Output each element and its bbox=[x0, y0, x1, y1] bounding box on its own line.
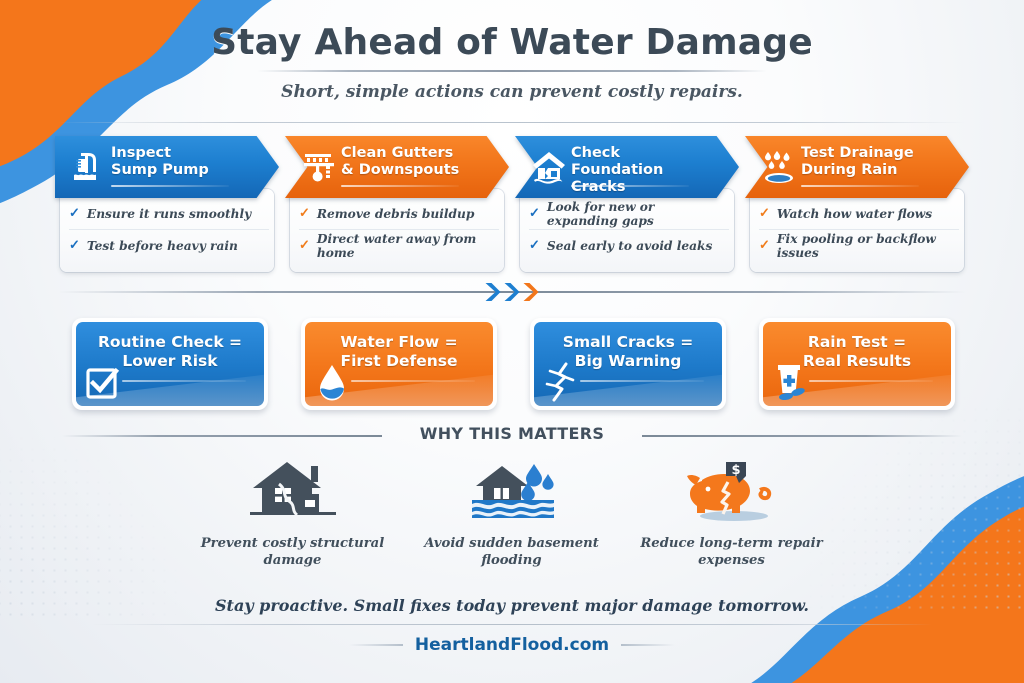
step-bullet-text: Test before heavy rain bbox=[87, 239, 238, 253]
step-title-accent bbox=[341, 185, 459, 187]
step-bullet-text: Remove debris buildup bbox=[317, 207, 475, 221]
water-drop-icon bbox=[313, 362, 351, 402]
benefit-accent bbox=[809, 380, 933, 382]
step-bullet-text: Direct water away from home bbox=[317, 232, 499, 260]
step-title-line2: During Rain bbox=[801, 162, 943, 179]
flooded-house-icon bbox=[464, 456, 560, 526]
step-title-line2: & Downspouts bbox=[341, 162, 483, 179]
step-title-accent bbox=[111, 185, 229, 187]
step-banner: Test Drainage During Rain bbox=[745, 136, 969, 198]
step-bullet: ✓ Direct water away from home bbox=[299, 229, 499, 261]
benefit-card-inner: Routine Check = Lower Risk bbox=[76, 322, 264, 406]
step-title-line1: Test Drainage bbox=[801, 145, 943, 162]
step-title-line2: Cracks bbox=[571, 179, 713, 196]
step-banner-title: Check Foundation Cracks bbox=[571, 145, 713, 196]
step-bullet-text: Watch how water flows bbox=[777, 207, 932, 221]
broken-piggy-bank-icon: $ bbox=[682, 456, 782, 526]
step-title-line1: Clean Gutters bbox=[341, 145, 483, 162]
footer-note: Stay proactive. Small fixes today preven… bbox=[0, 596, 1024, 615]
checkbox-icon bbox=[84, 362, 122, 402]
step-bullet: ✓ Look for new or expanding gaps bbox=[529, 198, 729, 229]
benefit-accent bbox=[351, 380, 475, 382]
chevron-right-icon bbox=[523, 282, 540, 302]
svg-text:$: $ bbox=[731, 463, 740, 478]
reason-icon-wrap bbox=[404, 452, 619, 526]
site-url[interactable]: HeartlandFlood.com bbox=[415, 635, 609, 655]
reason-item-1: Prevent costly structural damage bbox=[185, 452, 400, 569]
reason-icon-wrap: $ bbox=[624, 452, 839, 526]
benefit-accent bbox=[122, 380, 246, 382]
benefit-card-3[interactable]: Small Cracks = Big Warning bbox=[530, 318, 726, 410]
step-title-line1: Check Foundation bbox=[571, 145, 713, 179]
step-bullets: ✓ Look for new or expanding gaps ✓ Seal … bbox=[529, 198, 729, 261]
benefit-line1: Rain Test = bbox=[763, 333, 951, 352]
step-bullet: ✓ Test before heavy rain bbox=[69, 229, 269, 261]
step-banner: Clean Gutters & Downspouts bbox=[285, 136, 509, 198]
step-bullets: ✓ Watch how water flows ✓ Fix pooling or… bbox=[759, 198, 959, 261]
benefit-card-1[interactable]: Routine Check = Lower Risk bbox=[72, 318, 268, 410]
footer-dash-left bbox=[349, 644, 403, 646]
cracked-house-icon bbox=[529, 147, 569, 187]
benefit-card-inner: Rain Test = Real Results bbox=[763, 322, 951, 406]
benefit-line1: Small Cracks = bbox=[534, 333, 722, 352]
step-bullets: ✓ Ensure it runs smoothly ✓ Test before … bbox=[69, 198, 269, 261]
reasons-row: Prevent costly structural damage Avoid s… bbox=[160, 452, 864, 577]
step-banner-title: Test Drainage During Rain bbox=[801, 145, 943, 179]
damaged-house-icon bbox=[245, 456, 341, 526]
footer-divider bbox=[92, 624, 932, 625]
step-card-1[interactable]: Inspect Sump Pump ✓ Ensure it runs smoot… bbox=[55, 136, 279, 272]
check-icon: ✓ bbox=[759, 207, 770, 220]
dot-texture-bottom-left bbox=[0, 433, 184, 623]
gutter-downspout-icon bbox=[299, 147, 339, 187]
benefit-card-inner: Water Flow = First Defense bbox=[305, 322, 493, 406]
why-label: WHY THIS MATTERS bbox=[406, 424, 618, 443]
step-banner: Check Foundation Cracks bbox=[515, 136, 739, 198]
step-bullet-text: Look for new or expanding gaps bbox=[547, 200, 729, 228]
page-title: Stay Ahead of Water Damage bbox=[211, 22, 813, 70]
step-bullet: ✓ Remove debris buildup bbox=[299, 198, 499, 229]
header-divider bbox=[58, 122, 966, 123]
why-this-matters-divider: WHY THIS MATTERS bbox=[0, 424, 1024, 444]
step-bullet: ✓ Seal early to avoid leaks bbox=[529, 229, 729, 261]
check-icon: ✓ bbox=[299, 239, 310, 252]
chevron-right-icon bbox=[485, 282, 502, 302]
divider-line-right bbox=[642, 435, 962, 437]
step-bullet: ✓ Fix pooling or backflow issues bbox=[759, 229, 959, 261]
step-card-2[interactable]: Clean Gutters & Downspouts ✓ Remove debr… bbox=[285, 136, 509, 272]
footer-dash-right bbox=[621, 644, 675, 646]
step-bullets: ✓ Remove debris buildup ✓ Direct water a… bbox=[299, 198, 499, 261]
benefit-line1: Water Flow = bbox=[305, 333, 493, 352]
step-bullet-text: Seal early to avoid leaks bbox=[547, 239, 712, 253]
step-banner-title: Clean Gutters & Downspouts bbox=[341, 145, 483, 179]
footer-site[interactable]: HeartlandFlood.com bbox=[0, 635, 1024, 655]
benefit-card-4[interactable]: Rain Test = Real Results bbox=[759, 318, 955, 410]
check-icon: ✓ bbox=[299, 207, 310, 220]
rain-puddle-icon bbox=[759, 147, 799, 187]
benefit-line1: Routine Check = bbox=[76, 333, 264, 352]
step-title-line1: Inspect bbox=[111, 145, 253, 162]
header: Stay Ahead of Water Damage Short, simple… bbox=[0, 22, 1024, 102]
step-bullet-text: Ensure it runs smoothly bbox=[87, 207, 251, 221]
check-icon: ✓ bbox=[529, 207, 540, 220]
reason-text: Prevent costly structural damage bbox=[185, 535, 400, 569]
reason-icon-wrap bbox=[185, 452, 400, 526]
benefits-row: Routine Check = Lower Risk Water Flow = … bbox=[72, 318, 956, 413]
infographic-canvas: Stay Ahead of Water Damage Short, simple… bbox=[0, 0, 1024, 683]
step-bullet: ✓ Watch how water flows bbox=[759, 198, 959, 229]
step-banner: Inspect Sump Pump bbox=[55, 136, 279, 198]
page-subtitle: Short, simple actions can prevent costly… bbox=[0, 82, 1024, 102]
crack-icon bbox=[542, 362, 580, 402]
steps-row: Inspect Sump Pump ✓ Ensure it runs smoot… bbox=[55, 136, 969, 272]
chevron-divider bbox=[485, 282, 540, 302]
benefit-card-inner: Small Cracks = Big Warning bbox=[534, 322, 722, 406]
chevron-right-icon bbox=[504, 282, 521, 302]
step-card-4[interactable]: Test Drainage During Rain ✓ Watch how wa… bbox=[745, 136, 969, 272]
benefit-card-2[interactable]: Water Flow = First Defense bbox=[301, 318, 497, 410]
check-icon: ✓ bbox=[759, 239, 770, 252]
title-underline bbox=[257, 70, 767, 72]
reason-text: Avoid sudden basement flooding bbox=[404, 535, 619, 569]
step-bullet-text: Fix pooling or backflow issues bbox=[777, 232, 959, 260]
test-cup-icon bbox=[771, 362, 809, 402]
check-icon: ✓ bbox=[529, 239, 540, 252]
step-title-accent bbox=[801, 185, 919, 187]
step-bullet: ✓ Ensure it runs smoothly bbox=[69, 198, 269, 229]
step-title-line2: Sump Pump bbox=[111, 162, 253, 179]
benefit-accent bbox=[580, 380, 704, 382]
step-card-3[interactable]: Check Foundation Cracks ✓ Look for new o… bbox=[515, 136, 739, 272]
check-icon: ✓ bbox=[69, 207, 80, 220]
step-banner-title: Inspect Sump Pump bbox=[111, 145, 253, 179]
step-title-accent bbox=[571, 185, 689, 187]
reason-item-2: Avoid sudden basement flooding bbox=[404, 452, 619, 569]
reason-item-3: $ Reduce long-term repair expenses bbox=[624, 452, 839, 569]
divider-line-left bbox=[62, 435, 382, 437]
check-icon: ✓ bbox=[69, 239, 80, 252]
sump-pump-icon bbox=[69, 147, 109, 187]
reason-text: Reduce long-term repair expenses bbox=[624, 535, 839, 569]
